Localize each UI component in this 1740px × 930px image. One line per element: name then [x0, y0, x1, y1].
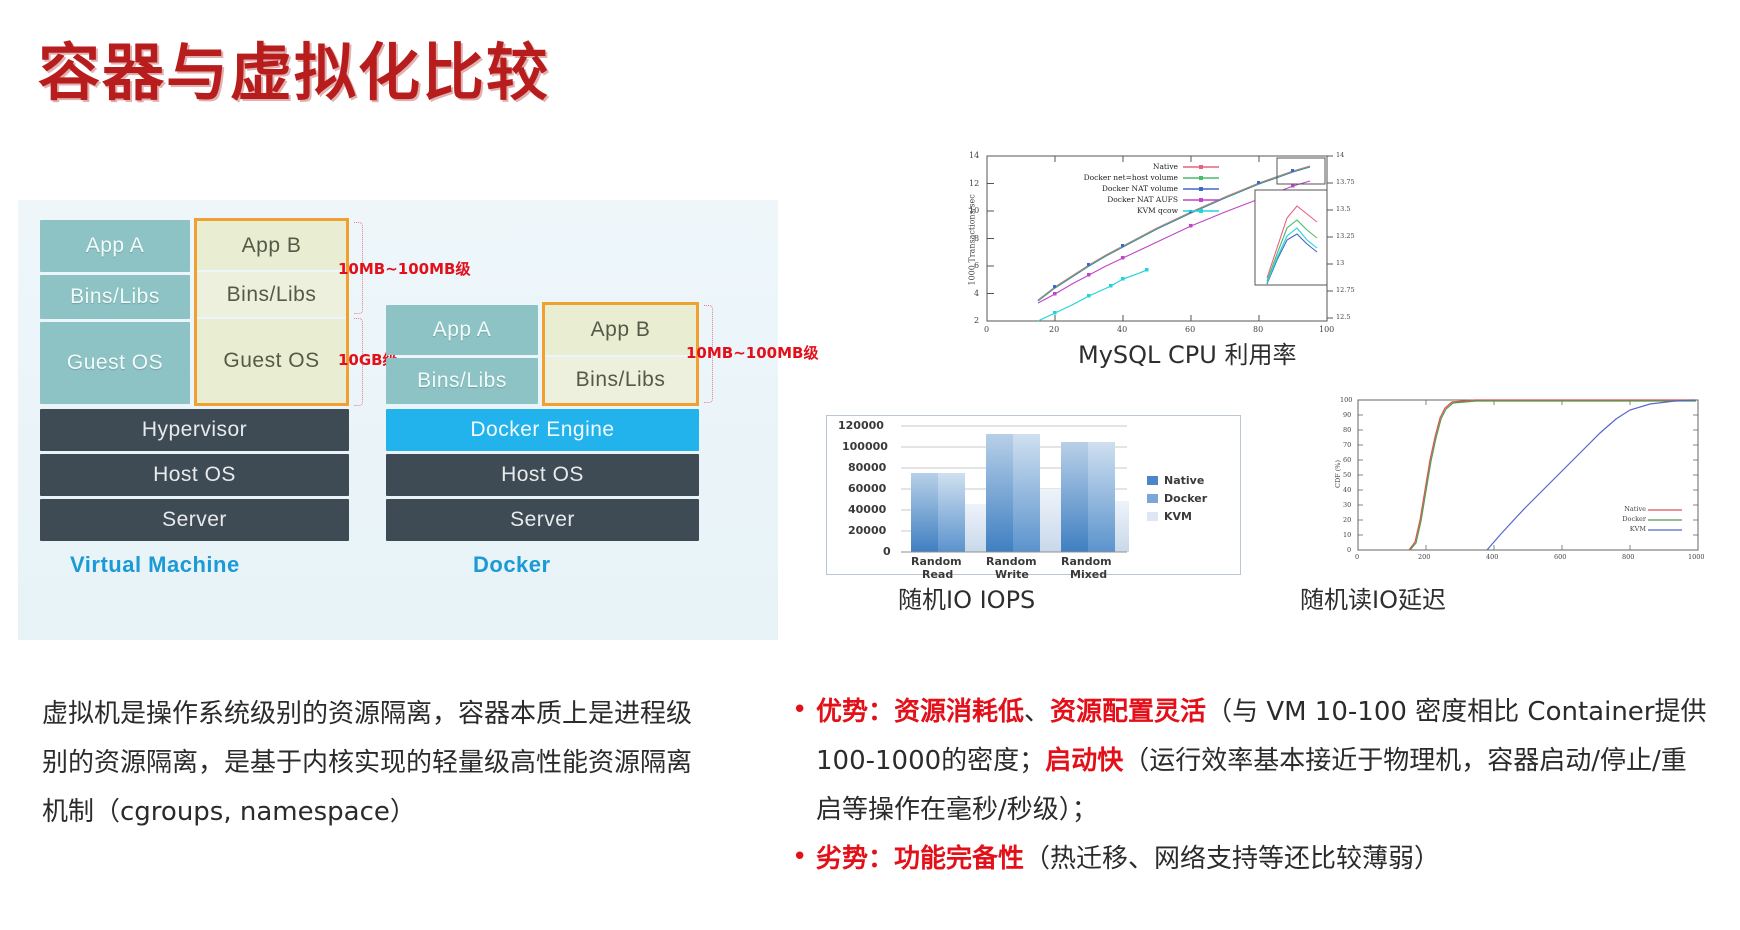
mysql-legend-docker-nat-aufs: Docker NAT AUFS [1050, 195, 1178, 204]
iops-ytick-100000: 100000 [842, 440, 888, 453]
pros-cons-list: 优势：资源消耗低、资源配置灵活（与 VM 10-100 密度相比 Contain… [790, 688, 1710, 884]
list-item-advantages: 优势：资源消耗低、资源配置灵活（与 VM 10-100 密度相比 Contain… [790, 688, 1710, 835]
iops-ytick-0: 0 [883, 545, 891, 558]
chart-random-io-iops: 120000 100000 80000 60000 40000 20000 0 … [826, 415, 1241, 575]
random-read-io-latency-caption: 随机读IO延迟 [1300, 580, 1446, 615]
list-item-disadvantages: 劣势：功能完备性（热迁移、网络支持等还比较薄弱） [790, 835, 1710, 884]
cdf-ytick-40: 40 [1343, 486, 1351, 494]
vm-layer-hostos: Host OS [40, 454, 349, 496]
iops-legend-docker: Docker [1164, 492, 1207, 505]
vm-section-label: Virtual Machine [70, 552, 240, 578]
vm-layer-hypervisor: Hypervisor [40, 409, 349, 451]
docker-app-size-annotation: 10MB~100MB级 [686, 342, 818, 363]
architecture-diagram: App A Bins/Libs Guest OS App B Bins/Libs… [18, 200, 778, 640]
cdf-legend-native: Native [1618, 505, 1646, 513]
docker-col1-app: App A [386, 305, 538, 355]
cdf-ytick-100: 100 [1340, 396, 1352, 404]
cdf-ytick-30: 30 [1343, 501, 1351, 509]
iops-cat-random-write-l1: Random [986, 555, 1037, 568]
iops-ytick-80000: 80000 [848, 461, 886, 474]
mysql-legend-docker-nethost: Docker net=host volume [1035, 173, 1178, 182]
docker-layer-hostos: Host OS [386, 454, 699, 496]
mysql-secytick-12.5: 12.5 [1336, 313, 1350, 321]
mysql-legend-swatch-docker-nethost [1183, 175, 1219, 181]
advantages-label: 优势： [816, 697, 894, 727]
iops-cat-random-read-l1: Random [911, 555, 962, 568]
iops-ytick-40000: 40000 [848, 503, 886, 516]
advantages-kw1: 资源消耗低 [894, 697, 1024, 727]
mysql-secytick-13.25: 13.25 [1336, 232, 1355, 240]
cdf-legend-kvm: KVM [1622, 525, 1646, 533]
vm-app-size-annotation: 10MB~100MB级 [338, 258, 470, 279]
docker-col2-bins: Bins/Libs [545, 357, 696, 403]
chart-mysql-cpu: 14 12 10 8 6 4 2 0 20 40 60 80 100 14 13… [955, 148, 1405, 348]
vm-col1-app: App A [40, 220, 190, 272]
mysql-legend-swatch-native [1183, 164, 1219, 170]
mysql-secytick-13: 13 [1336, 259, 1344, 267]
mysql-xtick-100: 100 [1319, 325, 1334, 334]
cdf-ytick-20: 20 [1343, 516, 1351, 524]
mysql-legend-kvm-qcow: KVM qcow [1085, 206, 1178, 215]
cdf-ytick-0: 0 [1347, 546, 1351, 554]
mysql-secytick-14: 14 [1336, 151, 1344, 159]
mysql-xtick-0: 0 [984, 325, 989, 334]
cdf-xtick-800: 800 [1622, 553, 1634, 561]
disadvantages-kw1: 功能完备性 [894, 844, 1024, 874]
cdf-legend-docker: Docker [1616, 515, 1646, 523]
cdf-ylabel: CDF (%) [1334, 448, 1342, 500]
summary-paragraph: 虚拟机是操作系统级别的资源隔离，容器本质上是进程级别的资源隔离，是基于内核实现的… [42, 690, 702, 837]
mysql-legend-swatch-docker-nat-volume [1183, 186, 1219, 192]
iops-cat-random-mixed-l2: Mixed [1070, 568, 1107, 581]
docker-section-label: Docker [473, 552, 551, 578]
advantages-kw3: 启动快 [1045, 746, 1123, 776]
docker-col2-app: App B [545, 305, 696, 355]
advantages-kw2: 资源配置灵活 [1050, 697, 1206, 727]
mysql-secytick-12.75: 12.75 [1336, 286, 1355, 294]
cdf-ytick-10: 10 [1343, 531, 1351, 539]
disadvantages-body: （热迁移、网络支持等还比较薄弱） [1024, 844, 1440, 874]
mysql-legend-docker-nat-volume: Docker NAT volume [1045, 184, 1178, 193]
cdf-svg [1330, 392, 1720, 572]
mysql-legend-swatch-kvm-qcow [1183, 208, 1219, 214]
cdf-xtick-600: 600 [1554, 553, 1566, 561]
vm-layer-server: Server [40, 499, 349, 541]
cdf-ytick-70: 70 [1343, 441, 1351, 449]
mysql-secytick-13.75: 13.75 [1336, 178, 1355, 186]
mysql-xtick-40: 40 [1117, 325, 1127, 334]
vm-col1-bins: Bins/Libs [40, 275, 190, 319]
docker-layer-engine: Docker Engine [386, 409, 699, 451]
iops-ytick-120000: 120000 [838, 419, 884, 432]
iops-ytick-60000: 60000 [848, 482, 886, 495]
chart-random-read-io-latency: 100 90 80 70 60 50 40 30 20 10 0 0 200 4… [1330, 392, 1720, 572]
mysql-ytick-4: 4 [974, 289, 979, 298]
mysql-secytick-13.5: 13.5 [1336, 205, 1350, 213]
mysql-ytick-2: 2 [974, 316, 979, 325]
vm-col1-guestos: Guest OS [40, 322, 190, 404]
cdf-ytick-90: 90 [1343, 411, 1351, 419]
cdf-ytick-80: 80 [1343, 426, 1351, 434]
cdf-xtick-1000: 1000 [1688, 553, 1705, 561]
mysql-xtick-20: 20 [1049, 325, 1059, 334]
slide-root: 容器与虚拟化比较 App A Bins/Libs Guest OS App B … [0, 0, 1740, 930]
random-io-iops-caption: 随机IO IOPS [898, 580, 1035, 615]
advantages-sep1: 、 [1024, 697, 1050, 727]
cdf-ytick-60: 60 [1343, 456, 1351, 464]
iops-legend-native: Native [1164, 474, 1204, 487]
cdf-xtick-200: 200 [1418, 553, 1430, 561]
mysql-legend-native: Native [1063, 162, 1178, 171]
mysql-xtick-80: 80 [1253, 325, 1263, 334]
vm-col2-guestos: Guest OS [197, 319, 346, 403]
cdf-xtick-0: 0 [1355, 553, 1359, 561]
docker-layer-server: Server [386, 499, 699, 541]
iops-legend-kvm: KVM [1164, 510, 1192, 523]
mysql-ylabel: 1000 Transactions/sec [968, 196, 977, 286]
cdf-ytick-50: 50 [1343, 471, 1351, 479]
mysql-ytick-12: 12 [969, 179, 979, 188]
mysql-legend-swatch-docker-nat-aufs [1183, 197, 1219, 203]
mysql-cpu-caption: MySQL CPU 利用率 [1078, 335, 1296, 370]
vm-col2-app: App B [197, 221, 346, 270]
cdf-xtick-400: 400 [1486, 553, 1498, 561]
mysql-xtick-60: 60 [1185, 325, 1195, 334]
iops-cat-random-mixed-l1: Random [1061, 555, 1112, 568]
docker-col1-bins: Bins/Libs [386, 358, 538, 404]
page-title: 容器与虚拟化比较 [38, 22, 550, 112]
disadvantages-label: 劣势： [816, 844, 894, 874]
vm-col2-bins: Bins/Libs [197, 272, 346, 317]
iops-ytick-20000: 20000 [848, 524, 886, 537]
mysql-ytick-14: 14 [969, 151, 979, 160]
